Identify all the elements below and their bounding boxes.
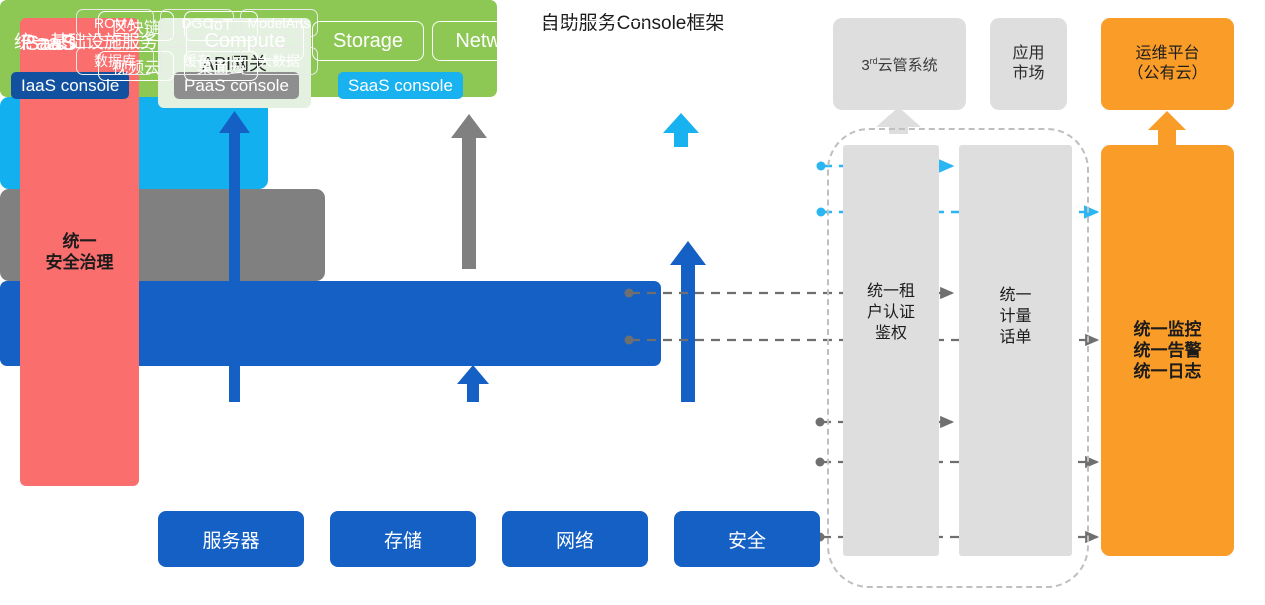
arrow-infra-to-paas xyxy=(457,365,489,402)
arrow-shared-to-ops-platform xyxy=(1148,111,1186,146)
unified-infrastructure-services-label: 统一基础设施服务 xyxy=(14,28,158,54)
hardware-box-network[interactable]: 网络 xyxy=(502,511,648,567)
third-party-cloud-management-box[interactable]: 3rd云管系统 xyxy=(833,18,966,110)
console-chip-saas[interactable]: SaaS console xyxy=(338,72,463,99)
ops-platform-public-cloud-box[interactable]: 运维平台 （公有云） xyxy=(1101,18,1234,110)
hardware-box-storage[interactable]: 存储 xyxy=(330,511,476,567)
shared-column-auth-label: 统一租 户认证 鉴权 xyxy=(843,282,939,344)
infra-chip-network[interactable]: Network xyxy=(432,21,552,61)
hardware-box-security[interactable]: 安全 xyxy=(674,511,820,567)
shared-column-metering[interactable] xyxy=(959,145,1072,556)
arrow-saas-to-console xyxy=(663,113,699,147)
ops-platform-column[interactable]: 统一监控 统一告警 统一日志 xyxy=(1101,145,1234,556)
app-market-box[interactable]: 应用 市场 xyxy=(990,18,1067,110)
infra-chip-cce[interactable]: CCE xyxy=(560,21,648,61)
arrow-infra-to-saas xyxy=(670,241,706,402)
shared-column-metering-label: 统一 计量 话单 xyxy=(959,286,1072,348)
infra-chip-compute[interactable]: Compute xyxy=(186,21,304,61)
shared-column-auth[interactable] xyxy=(843,145,939,556)
infra-chip-storage[interactable]: Storage xyxy=(312,21,424,61)
arrow-paas-to-console xyxy=(451,114,487,269)
third-party-cloud-label: 3rd云管系统 xyxy=(861,54,937,75)
architecture-diagram-canvas: 统一租 户认证 鉴权 统一 计量 话单 统一 安全治理 API网关 自助服务Co… xyxy=(0,0,1265,605)
hardware-box-server[interactable]: 服务器 xyxy=(158,511,304,567)
